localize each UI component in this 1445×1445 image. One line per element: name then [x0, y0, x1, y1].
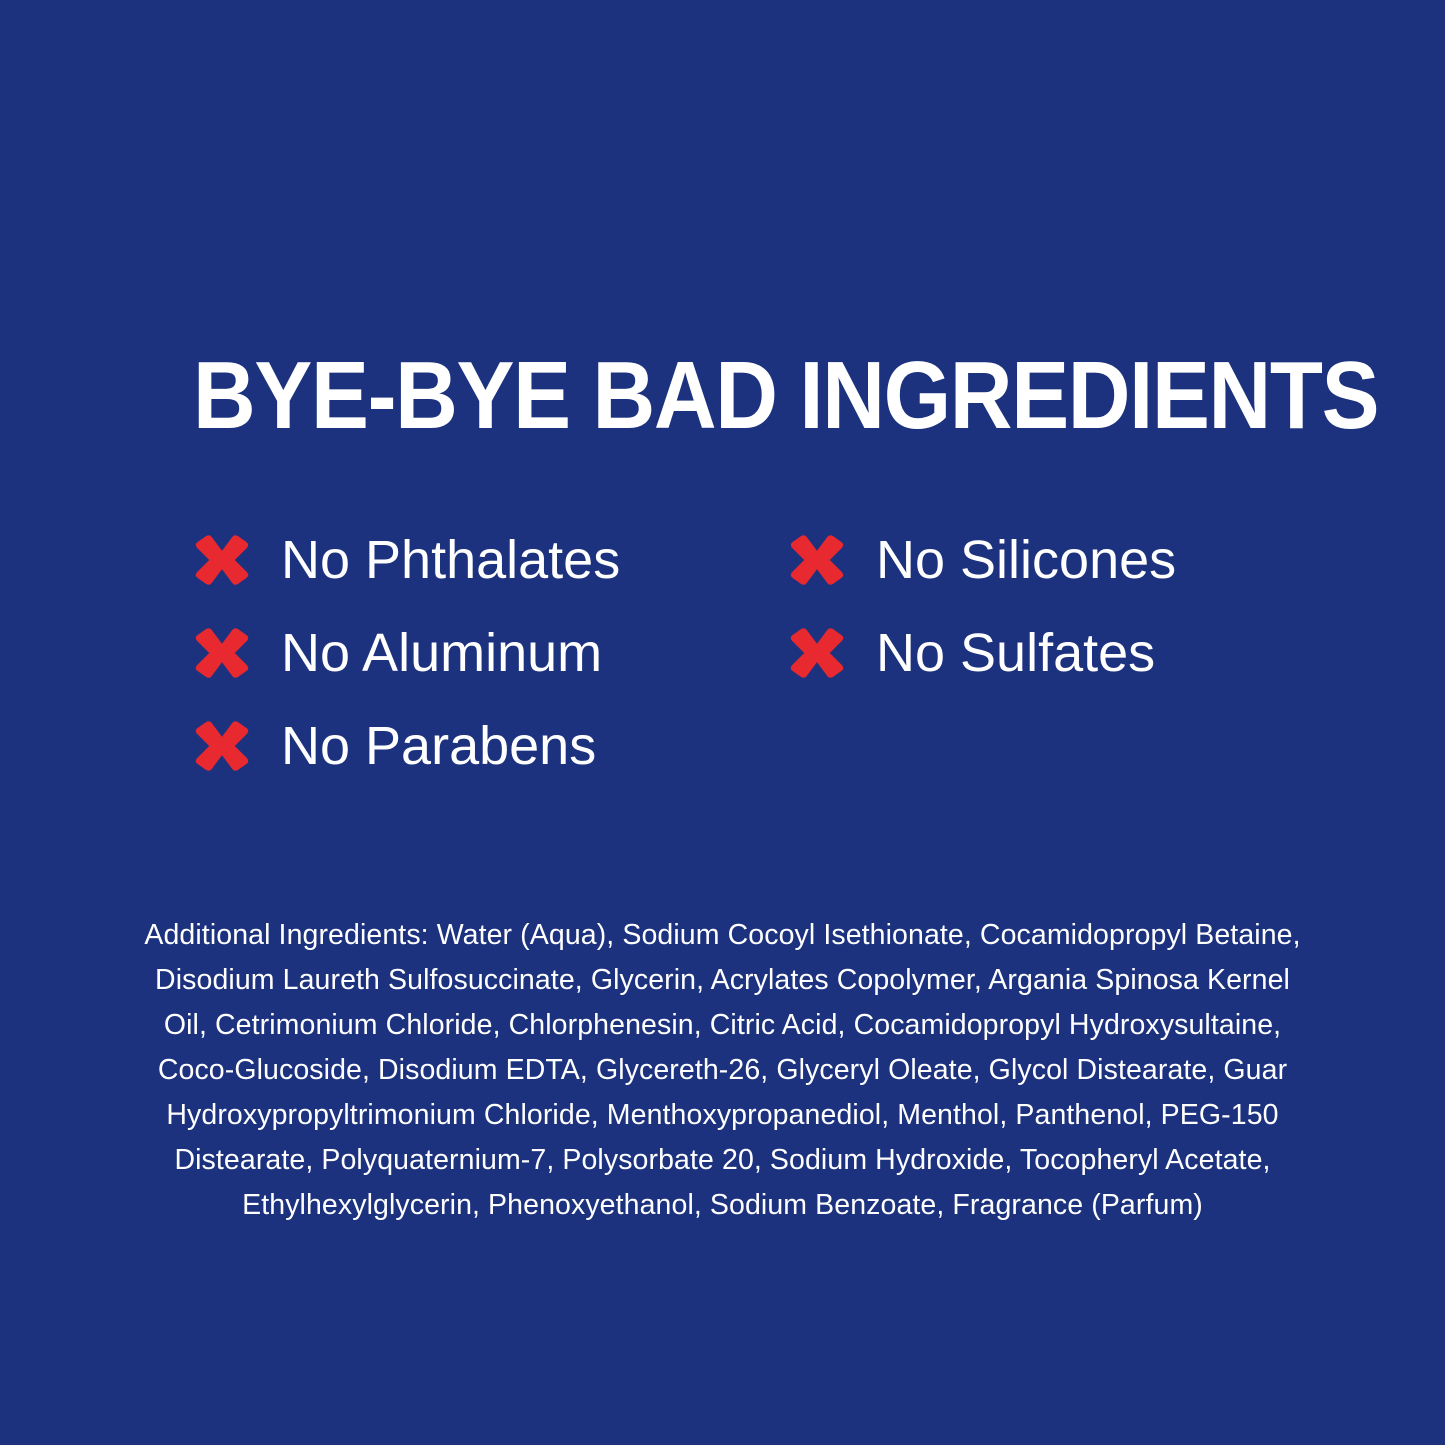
claim-item-no-phthalates: No Phthalates [193, 513, 620, 606]
claim-label: No Silicones [876, 530, 1176, 590]
claim-item-no-sulfates: No Sulfates [788, 606, 1176, 699]
claims-column-right: No Silicones No Sulfates [788, 513, 1176, 699]
claim-label: No Sulfates [876, 623, 1155, 683]
claim-label: No Parabens [281, 716, 596, 776]
claim-item-no-parabens: No Parabens [193, 699, 620, 792]
red-x-icon [788, 531, 850, 589]
product-ingredient-claims-panel: BYE-BYE BAD INGREDIENTS No Phthalates [0, 0, 1445, 1445]
claim-item-no-silicones: No Silicones [788, 513, 1176, 606]
page-title: BYE-BYE BAD INGREDIENTS [193, 349, 1293, 444]
red-x-icon [193, 717, 255, 775]
red-x-icon [788, 624, 850, 682]
claim-label: No Phthalates [281, 530, 620, 590]
red-x-icon [193, 624, 255, 682]
claim-item-no-aluminum: No Aluminum [193, 606, 620, 699]
red-x-icon [193, 531, 255, 589]
claims-column-left: No Phthalates No Aluminum No Parabens [193, 513, 620, 792]
page-title-text: BYE-BYE BAD INGREDIENTS [193, 348, 1378, 444]
claim-label: No Aluminum [281, 623, 602, 683]
additional-ingredients-text: Additional Ingredients: Water (Aqua), So… [138, 913, 1308, 1228]
